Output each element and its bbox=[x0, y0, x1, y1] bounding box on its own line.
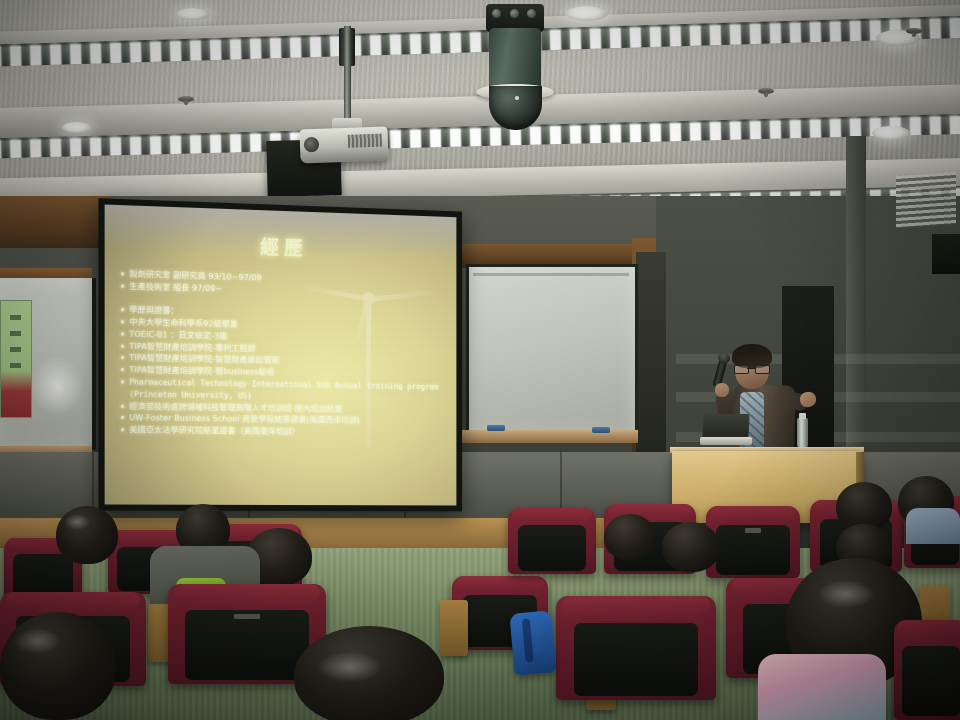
wall-speaker bbox=[932, 234, 960, 274]
poster-line bbox=[10, 331, 21, 336]
bullet-dot-icon bbox=[121, 284, 124, 287]
bullet-dot-icon bbox=[121, 344, 124, 347]
bullet-dot-icon bbox=[121, 381, 124, 384]
glasses-bridge bbox=[747, 368, 755, 369]
audience-member bbox=[56, 506, 118, 564]
poster-line bbox=[10, 363, 21, 368]
audience-member bbox=[604, 514, 656, 560]
whiteboard-right-tray bbox=[462, 430, 638, 443]
bullet-dot-icon bbox=[121, 308, 124, 311]
audience-member bbox=[906, 508, 960, 544]
ceiling-downlight bbox=[566, 6, 608, 21]
hair-highlight bbox=[14, 628, 60, 654]
projector-lens-icon bbox=[304, 137, 320, 153]
whiteboard-marker[interactable] bbox=[592, 427, 610, 433]
audience-member bbox=[662, 522, 720, 572]
projection-screen: 經歷 製劑研究室 副研究員 93/10~97/09生產技術室 組長 97/09~… bbox=[105, 205, 457, 506]
auditorium-seat[interactable] bbox=[556, 596, 716, 700]
seat-armrest bbox=[440, 600, 468, 656]
ceiling bbox=[0, 0, 960, 205]
seat-panel bbox=[518, 525, 587, 571]
audience-member-foreground bbox=[758, 654, 886, 720]
slide-bullet-text: 美國亞太法學研究院結業證書（美國東岸培訓） bbox=[129, 425, 449, 440]
bullet-dot-icon bbox=[121, 429, 124, 432]
seat-badge bbox=[745, 528, 760, 533]
mount-bolt bbox=[492, 9, 501, 18]
person-torso bbox=[906, 508, 960, 544]
ceiling-downlight bbox=[176, 8, 210, 20]
hair-highlight bbox=[318, 652, 382, 682]
lecture-hall-photo: 經歷 製劑研究室 副研究員 93/10~97/09生產技術室 組長 97/09~… bbox=[0, 0, 960, 720]
wall-wood-band bbox=[0, 196, 110, 248]
whiteboard-marker[interactable] bbox=[487, 425, 505, 431]
seat-panel bbox=[185, 610, 308, 680]
backpack-strap bbox=[522, 618, 534, 663]
bullet-dot-icon bbox=[121, 356, 124, 359]
seat-crown bbox=[456, 576, 544, 595]
backpack[interactable] bbox=[509, 610, 556, 675]
ceiling-projector bbox=[299, 126, 388, 163]
seat-crown bbox=[174, 584, 319, 610]
person-torso bbox=[758, 654, 886, 720]
wall-recess bbox=[636, 252, 666, 452]
person-head bbox=[56, 506, 118, 564]
slide-bullet-list: 製劑研究室 副研究員 93/10~97/09生產技術室 組長 97/09~學歷與… bbox=[121, 268, 449, 440]
laptop-keyboard[interactable] bbox=[700, 437, 752, 445]
sprinkler-head bbox=[178, 96, 194, 102]
bottle-cap bbox=[799, 413, 806, 419]
poster-line bbox=[10, 315, 21, 320]
bullet-dot-icon bbox=[121, 332, 124, 335]
speaker-left-hand bbox=[715, 383, 729, 397]
seat-badge bbox=[234, 614, 259, 619]
seat-crown bbox=[710, 506, 796, 525]
auditorium-seat[interactable] bbox=[508, 508, 596, 574]
whiteboard-right[interactable] bbox=[466, 264, 638, 438]
ceiling-downlight bbox=[872, 126, 910, 140]
sprinkler-head bbox=[906, 28, 922, 34]
laptop-screen[interactable] bbox=[702, 414, 749, 439]
air-vent-grille bbox=[896, 172, 956, 228]
water-bottle[interactable] bbox=[797, 418, 808, 448]
hair-highlight bbox=[818, 580, 874, 608]
bullet-dot-icon bbox=[121, 404, 124, 407]
projector-vent bbox=[348, 134, 382, 148]
seat-crown bbox=[897, 620, 960, 646]
mount-bolt bbox=[510, 9, 519, 18]
seat-panel bbox=[574, 623, 699, 696]
person-head bbox=[604, 514, 656, 560]
seat-panel bbox=[902, 646, 960, 716]
mount-bolt bbox=[527, 9, 536, 18]
whiteboard-top-edge bbox=[473, 273, 629, 276]
person-head bbox=[0, 612, 116, 720]
person-head bbox=[662, 522, 720, 572]
projection-screen-frame: 經歷 製劑研究室 副研究員 93/10~97/09生產技術室 組長 97/09~… bbox=[98, 198, 462, 511]
auditorium-seat[interactable] bbox=[894, 620, 960, 720]
bullet-dot-icon bbox=[121, 368, 124, 371]
hair-highlight bbox=[64, 514, 90, 530]
wall-poster bbox=[0, 300, 32, 418]
sprinkler-head bbox=[758, 88, 774, 94]
audience-member-foreground bbox=[0, 612, 116, 720]
bullet-dot-icon bbox=[121, 272, 124, 275]
bullet-dot-icon bbox=[121, 416, 124, 419]
dome-camera-body bbox=[489, 28, 541, 88]
ceiling-downlight bbox=[62, 122, 92, 133]
glasses-lens bbox=[734, 365, 749, 374]
seat-crown bbox=[512, 508, 593, 525]
eyeglasses-icon bbox=[734, 365, 768, 372]
glasses-lens bbox=[755, 365, 770, 374]
seat-crown bbox=[562, 596, 709, 623]
poster-line bbox=[10, 347, 21, 352]
bullet-dot-icon bbox=[121, 320, 124, 323]
whiteboard-glare bbox=[30, 356, 84, 416]
